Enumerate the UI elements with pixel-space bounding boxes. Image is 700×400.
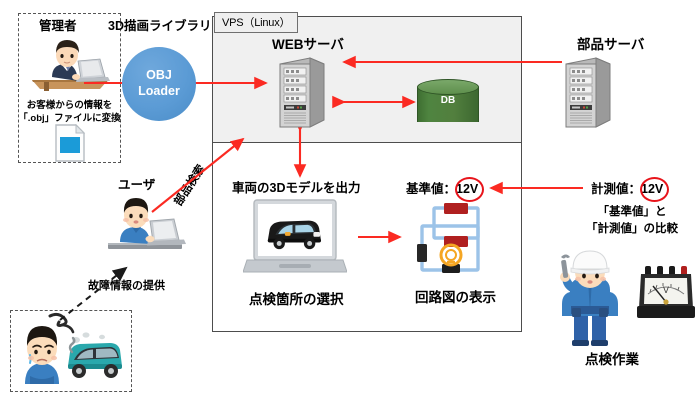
comparison-note: 「基準値」と 「計測値」の比較: [586, 204, 678, 237]
web-server-label: WEBサーバ: [272, 37, 344, 54]
svg-text:V: V: [663, 285, 669, 295]
model-output-label: 車両の3Dモデルを出力: [232, 181, 360, 197]
db-top: [417, 79, 479, 95]
db-label: DB: [417, 95, 479, 106]
inspection-work-label: 点検作業: [585, 352, 639, 369]
broken-car-illustration: [62, 330, 128, 382]
car-model-laptop-illustration: [243, 198, 347, 290]
measured-value-highlight: [640, 177, 669, 202]
parts-server-label: 部品サーバ: [577, 37, 644, 54]
obj-loader-line2: Loader: [138, 84, 180, 100]
db-icon: DB: [417, 79, 479, 128]
parts-server-icon: [563, 56, 613, 130]
vps-title-tab: VPS（Linux）: [214, 12, 298, 33]
inspector-illustration: [552, 248, 628, 346]
admin-illustration: [26, 36, 114, 92]
fault-info-label: 故障情報の提供: [88, 280, 165, 294]
admin-note: お客様からの情報を 「.obj」ファイルに変換: [18, 100, 121, 126]
circuit-display-label: 回路図の表示: [415, 290, 496, 307]
diagram-canvas: 管理者 お客様からの情報を 「.obj」ファイルに変換 3D描画ライブラリ OB…: [0, 0, 700, 400]
library-label: 3D描画ライブラリ: [108, 19, 211, 35]
reference-value-highlight: [455, 177, 484, 202]
web-server-icon: [277, 56, 327, 130]
reference-value-text: 基準値：: [406, 182, 456, 196]
circuit-diagram-illustration: [412, 200, 496, 288]
inspection-point-label: 点検箇所の選択: [249, 292, 344, 309]
obj-loader-line1: OBJ: [146, 68, 172, 84]
voltmeter-illustration: V: [635, 264, 697, 322]
obj-loader-node: OBJ Loader: [122, 47, 196, 121]
measured-value-text: 計測値：: [591, 182, 641, 196]
admin-label: 管理者: [39, 19, 77, 35]
obj-file-icon: [54, 124, 86, 162]
